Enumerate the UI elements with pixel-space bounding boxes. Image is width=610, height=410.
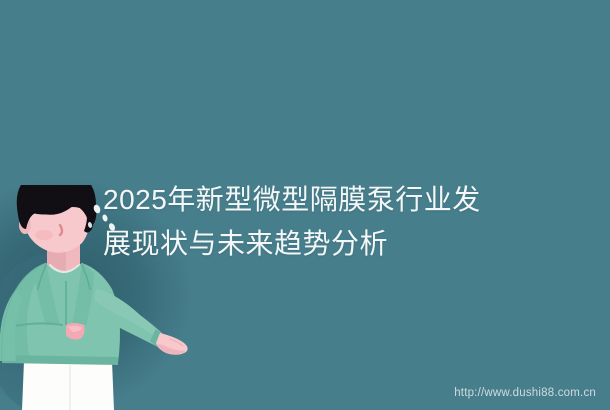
title-line-2: 展现状与未来趋势分析 bbox=[103, 222, 573, 266]
poster-canvas: 2025年新型微型隔膜泵行业发 展现状与未来趋势分析 http://www.du… bbox=[0, 0, 610, 410]
page-title: 2025年新型微型隔膜泵行业发 展现状与未来趋势分析 bbox=[103, 134, 573, 310]
cheek-blush bbox=[35, 230, 53, 240]
title-line-1: 2025年新型微型隔膜泵行业发 bbox=[103, 184, 481, 215]
trousers bbox=[22, 361, 114, 410]
site-url-watermark: http://www.dushi88.com.cn bbox=[454, 387, 596, 399]
